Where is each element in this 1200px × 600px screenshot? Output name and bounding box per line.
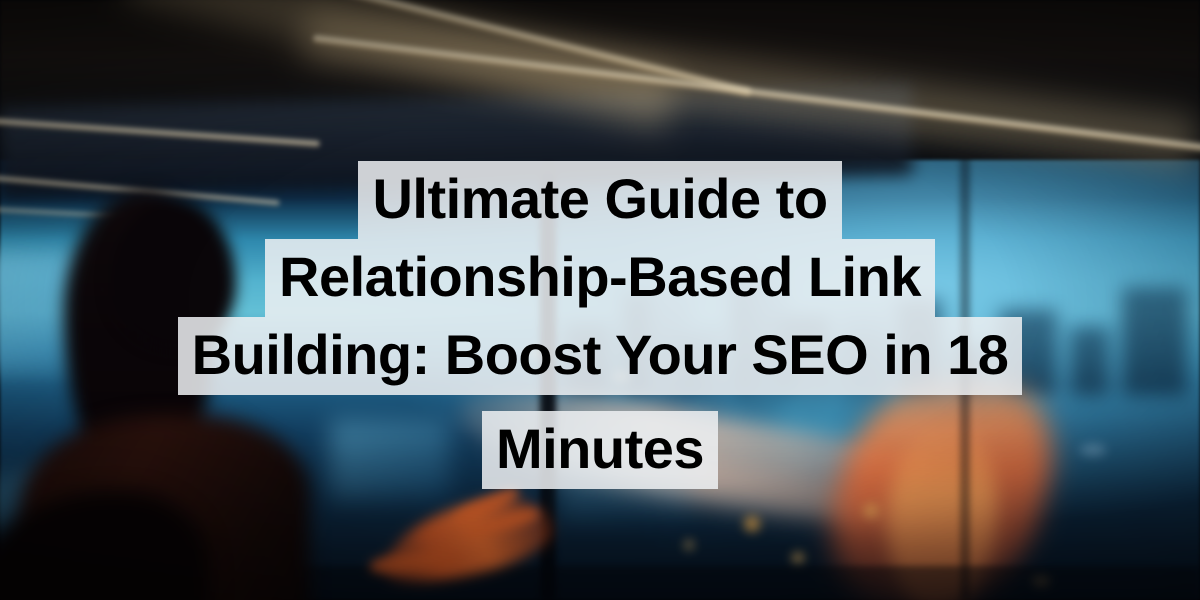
headline-line-3: Building: Boost Your SEO in 18: [0, 317, 1200, 395]
page-title: Ultimate Guide to Relationship-Based Lin…: [0, 161, 1200, 489]
headline-line-3-text: Building: Boost Your SEO in 18: [178, 317, 1023, 395]
headline-line-2-text: Relationship-Based Link: [265, 239, 935, 317]
headline-line-2: Relationship-Based Link: [0, 239, 1200, 317]
article-hero-banner: Ultimate Guide to Relationship-Based Lin…: [0, 0, 1200, 600]
headline-line-1-text: Ultimate Guide to: [358, 161, 841, 239]
headline-line-4: Minutes: [0, 411, 1200, 489]
headline-line-4-text: Minutes: [482, 411, 718, 489]
headline-line-1: Ultimate Guide to: [0, 161, 1200, 239]
